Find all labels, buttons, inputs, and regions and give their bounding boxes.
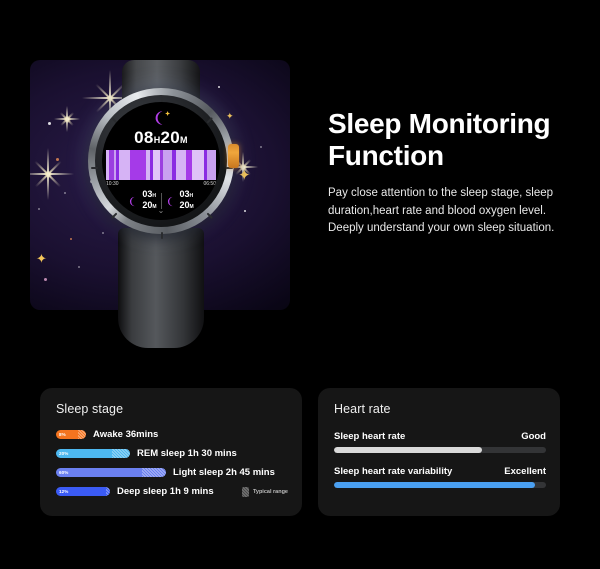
star-dot-icon: [44, 278, 47, 281]
sleep-stage-bar: 8%: [56, 430, 86, 439]
typical-range-swatch-icon: [242, 487, 249, 497]
star-dot-icon: [260, 146, 262, 148]
page-title-line2: Function: [328, 140, 444, 171]
sleep-hypnogram-chart: [106, 150, 216, 180]
stat2-hours: 03: [180, 189, 190, 199]
hypnogram-axis: 10:30 06:50: [106, 181, 216, 187]
stat1-minutes: 20: [142, 200, 152, 210]
sleep-stage-bar-fill: 20%: [56, 449, 112, 458]
bezel-tick: [161, 232, 163, 239]
watch-stat-2: 03H 20M: [166, 190, 194, 212]
hypnogram-segment: [163, 150, 172, 180]
crescent-moon-icon: [166, 196, 177, 207]
sleep-stage-percent: 60%: [56, 470, 69, 475]
hero-section: ✦ ✦ ✦: [0, 0, 600, 370]
watch-band-bottom: [118, 228, 204, 348]
star-dot-icon: [48, 122, 51, 125]
bezel-tick: [91, 167, 98, 169]
stat1-minutes-unit: M: [152, 204, 156, 210]
watch-stat-2-value: 03H 20M: [180, 190, 194, 212]
heart-rate-card: Heart rate Sleep heart rateGoodSleep hea…: [318, 388, 560, 516]
crescent-moon-icon: [128, 196, 139, 207]
heart-rate-metric-list: Sleep heart rateGoodSleep heart rate var…: [334, 431, 546, 488]
sleep-stage-bar-fill: 8%: [56, 430, 78, 439]
hypnogram-segment: [192, 150, 204, 180]
sleep-stage-row: 20%REM sleep 1h 30 mins: [56, 448, 288, 459]
watch-screen[interactable]: 08H20M 10:30 06:50 03H 20M: [102, 102, 220, 220]
star-dot-icon: [56, 158, 59, 161]
hypnogram-segment: [207, 150, 216, 180]
page-root: ✦ ✦ ✦: [0, 0, 600, 569]
hypnogram-segment: [176, 150, 186, 180]
sleep-hours-value: 08: [134, 128, 154, 147]
bezel-tick: [207, 213, 213, 219]
heart-rate-card-title: Heart rate: [334, 402, 546, 416]
star-dot-icon: [244, 210, 246, 212]
heart-rate-metric-header: Sleep heart rateGood: [334, 431, 546, 442]
sleep-minutes-value: 20: [161, 128, 181, 147]
star-dot-icon: [64, 192, 66, 194]
sleep-stage-percent: 8%: [56, 432, 66, 437]
sleep-stage-bar: 60%: [56, 468, 166, 477]
heart-rate-progress-track: [334, 447, 546, 453]
typical-range-label: Typical range: [253, 489, 288, 495]
star-dot-icon: [38, 208, 40, 210]
heart-rate-progress-track: [334, 482, 546, 488]
hero-description: Pay close attention to the sleep stage, …: [328, 185, 584, 237]
stat2-hours-unit: H: [190, 193, 194, 199]
sleep-stage-bar: 12%: [56, 487, 110, 496]
sleep-stage-bar-fill: 60%: [56, 468, 142, 477]
heart-rate-progress-fill: [334, 447, 482, 453]
sleep-stage-typical-range: [106, 487, 110, 496]
metric-cards-row: Sleep stage 8%Awake 36mins20%REM sleep 1…: [40, 388, 560, 516]
heart-rate-metric: Sleep heart rate variabilityExcellent: [334, 466, 546, 488]
watch-stat-1-value: 03H 20M: [142, 190, 156, 212]
heart-rate-metric: Sleep heart rateGood: [334, 431, 546, 453]
bezel-tick: [207, 117, 213, 123]
star-icon: ✦: [238, 168, 251, 183]
stat2-minutes: 20: [180, 200, 190, 210]
sleep-stage-card-title: Sleep stage: [56, 402, 288, 416]
sleep-stage-percent: 20%: [56, 451, 69, 456]
hero-text-block: Sleep Monitoring Function Pay close atte…: [328, 108, 584, 237]
sleep-stage-label: REM sleep 1h 30 mins: [137, 448, 237, 459]
star-icon: ✦: [36, 252, 47, 265]
sleep-stage-row: 60%Light sleep 2h 45 mins: [56, 467, 288, 478]
hypnogram-segment: [119, 150, 130, 180]
sleep-stage-row: 12%Deep sleep 1h 9 minsTypical range: [56, 486, 288, 497]
star-dot-icon: [78, 266, 80, 268]
heart-rate-metric-rating: Good: [521, 431, 546, 442]
sleep-stage-typical-range: [112, 449, 130, 458]
sleep-stage-typical-range: [78, 430, 86, 439]
sleep-stage-bar-fill: 12%: [56, 487, 106, 496]
stat1-hours-unit: H: [152, 193, 156, 199]
heart-rate-metric-name: Sleep heart rate variability: [334, 466, 452, 477]
sleep-stage-bar: 20%: [56, 449, 130, 458]
chevron-down-icon[interactable]: ⌄: [158, 207, 165, 215]
stat2-minutes-unit: M: [190, 204, 194, 210]
page-title: Sleep Monitoring Function: [328, 108, 584, 171]
typical-range-legend: Typical range: [242, 487, 288, 497]
sleep-minutes-unit: M: [180, 135, 188, 145]
sleep-hours-unit: H: [154, 135, 161, 145]
page-title-line1: Sleep Monitoring: [328, 108, 550, 139]
sleep-stage-row: 8%Awake 36mins: [56, 429, 288, 440]
hypnogram-start-time: 10:30: [106, 181, 119, 187]
star-dot-icon: [70, 238, 72, 240]
hypnogram-segment: [130, 150, 145, 180]
sparkle-icon: [54, 106, 80, 132]
heart-rate-metric-header: Sleep heart rate variabilityExcellent: [334, 466, 546, 477]
sleep-stage-card: Sleep stage 8%Awake 36mins20%REM sleep 1…: [40, 388, 302, 516]
sleep-stage-percent: 12%: [56, 489, 69, 494]
sleep-stage-label: Light sleep 2h 45 mins: [173, 467, 275, 478]
hypnogram-end-time: 06:50: [203, 181, 216, 187]
bezel-tick: [111, 213, 117, 219]
sleep-stage-label: Awake 36mins: [93, 429, 158, 440]
watch-total-sleep-time: 08H20M: [102, 128, 220, 148]
heart-rate-metric-rating: Excellent: [504, 466, 546, 477]
hypnogram-segment: [153, 150, 160, 180]
watch-crown-button[interactable]: [228, 144, 239, 168]
stat1-hours: 03: [142, 189, 152, 199]
smartwatch: 08H20M 10:30 06:50 03H 20M: [88, 88, 234, 318]
sparkle-icon: [30, 148, 74, 200]
sleep-stage-typical-range: [142, 468, 166, 477]
watch-stat-1: 03H 20M: [128, 190, 156, 212]
heart-rate-metric-name: Sleep heart rate: [334, 431, 405, 442]
sleep-stage-list: 8%Awake 36mins20%REM sleep 1h 30 mins60%…: [56, 429, 288, 497]
heart-rate-progress-fill: [334, 482, 535, 488]
sleep-stage-label: Deep sleep 1h 9 mins: [117, 486, 214, 497]
